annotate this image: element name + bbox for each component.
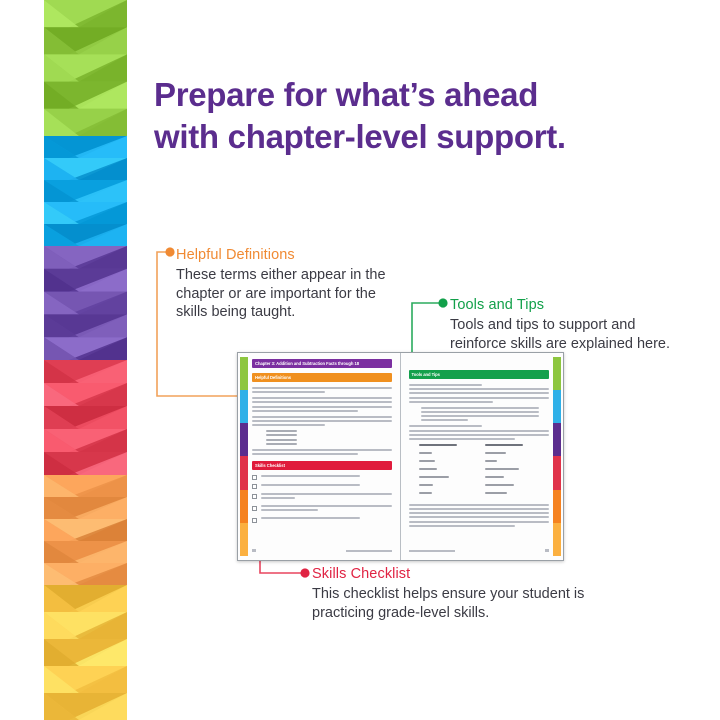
page-number-right: [545, 549, 549, 552]
dot-definitions: [165, 247, 174, 256]
definitions-paragraph-1: [252, 387, 392, 393]
clue-words-column-subtraction: [485, 444, 529, 500]
page-edge-tab-left: [240, 357, 248, 556]
checkbox-icon[interactable]: [252, 484, 257, 489]
tips-section-fact-families: [409, 384, 550, 403]
skills-checklist-bar-text: Skills Checklist: [255, 462, 285, 469]
skills-checklist-bar: Skills Checklist: [252, 461, 392, 470]
page-edge-segment: [240, 490, 248, 523]
page-edge-segment: [553, 523, 561, 556]
page-edge-segment: [553, 456, 561, 489]
checklist-item[interactable]: [252, 505, 392, 513]
page-footer-right: [409, 549, 550, 552]
tips-closing-paragraph: [409, 504, 550, 527]
definitions-paragraph-4: [252, 449, 392, 455]
callout-body-definitions: These terms either appear in the chapter…: [176, 266, 391, 322]
page-edge-segment: [553, 357, 561, 390]
callout-title-checklist: Skills Checklist: [312, 566, 612, 583]
clue-words-table: [419, 444, 550, 500]
dot-checklist: [300, 568, 309, 577]
tips-example-block: [409, 407, 550, 422]
definitions-paragraph-2: [252, 397, 392, 412]
callout-tools-and-tips: Tools and Tips Tools and tips to support…: [450, 297, 680, 353]
book-page-right: Tools and Tips: [401, 353, 564, 560]
footer-text-left: [346, 550, 392, 552]
page-edge-tab-right: [553, 357, 561, 556]
page-edge-segment: [553, 423, 561, 456]
page-footer-left: [252, 549, 392, 552]
checkbox-icon[interactable]: [252, 506, 257, 511]
page-edge-segment: [553, 390, 561, 423]
definitions-paragraph-3: [252, 416, 392, 426]
skills-checklist-items: [252, 475, 392, 523]
page-edge-segment: [240, 456, 248, 489]
page-edge-segment: [240, 357, 248, 390]
page-number-left: [252, 549, 256, 552]
helpful-definitions-bar-text: Helpful Definitions: [255, 374, 291, 381]
callout-helpful-definitions: Helpful Definitions These terms either a…: [176, 247, 391, 322]
book-spread-preview: Chapter 3: Addition and Subtraction Fact…: [237, 352, 564, 561]
helpful-definitions-bar: Helpful Definitions: [252, 373, 392, 382]
checklist-item[interactable]: [252, 475, 392, 481]
callout-title-tips: Tools and Tips: [450, 297, 680, 314]
callout-title-definitions: Helpful Definitions: [176, 247, 391, 264]
dot-tips: [438, 298, 447, 307]
checkbox-icon[interactable]: [252, 494, 257, 499]
definitions-equations: [252, 430, 392, 445]
page-edge-segment: [553, 490, 561, 523]
chapter-title-bar: Chapter 3: Addition and Subtraction Fact…: [252, 359, 392, 368]
tools-and-tips-bar: Tools and Tips: [409, 370, 550, 379]
checklist-item[interactable]: [252, 484, 392, 490]
page-edge-segment: [240, 390, 248, 423]
checklist-item[interactable]: [252, 493, 392, 501]
footer-text-right: [409, 550, 455, 552]
checkbox-icon[interactable]: [252, 518, 257, 523]
checklist-item[interactable]: [252, 517, 392, 523]
callout-skills-checklist: Skills Checklist This checklist helps en…: [312, 566, 612, 622]
page-edge-segment: [240, 523, 248, 556]
callout-body-checklist: This checklist helps ensure your student…: [312, 585, 612, 622]
chapter-title-text: Chapter 3: Addition and Subtraction Fact…: [255, 360, 359, 367]
tips-section-clue-words: [409, 425, 550, 440]
book-page-left: Chapter 3: Addition and Subtraction Fact…: [238, 353, 401, 560]
clue-words-column-addition: [419, 444, 463, 500]
page-edge-segment: [240, 423, 248, 456]
tools-and-tips-bar-text: Tools and Tips: [412, 371, 440, 378]
callout-body-tips: Tools and tips to support and reinforce …: [450, 316, 680, 353]
checkbox-icon[interactable]: [252, 475, 257, 480]
